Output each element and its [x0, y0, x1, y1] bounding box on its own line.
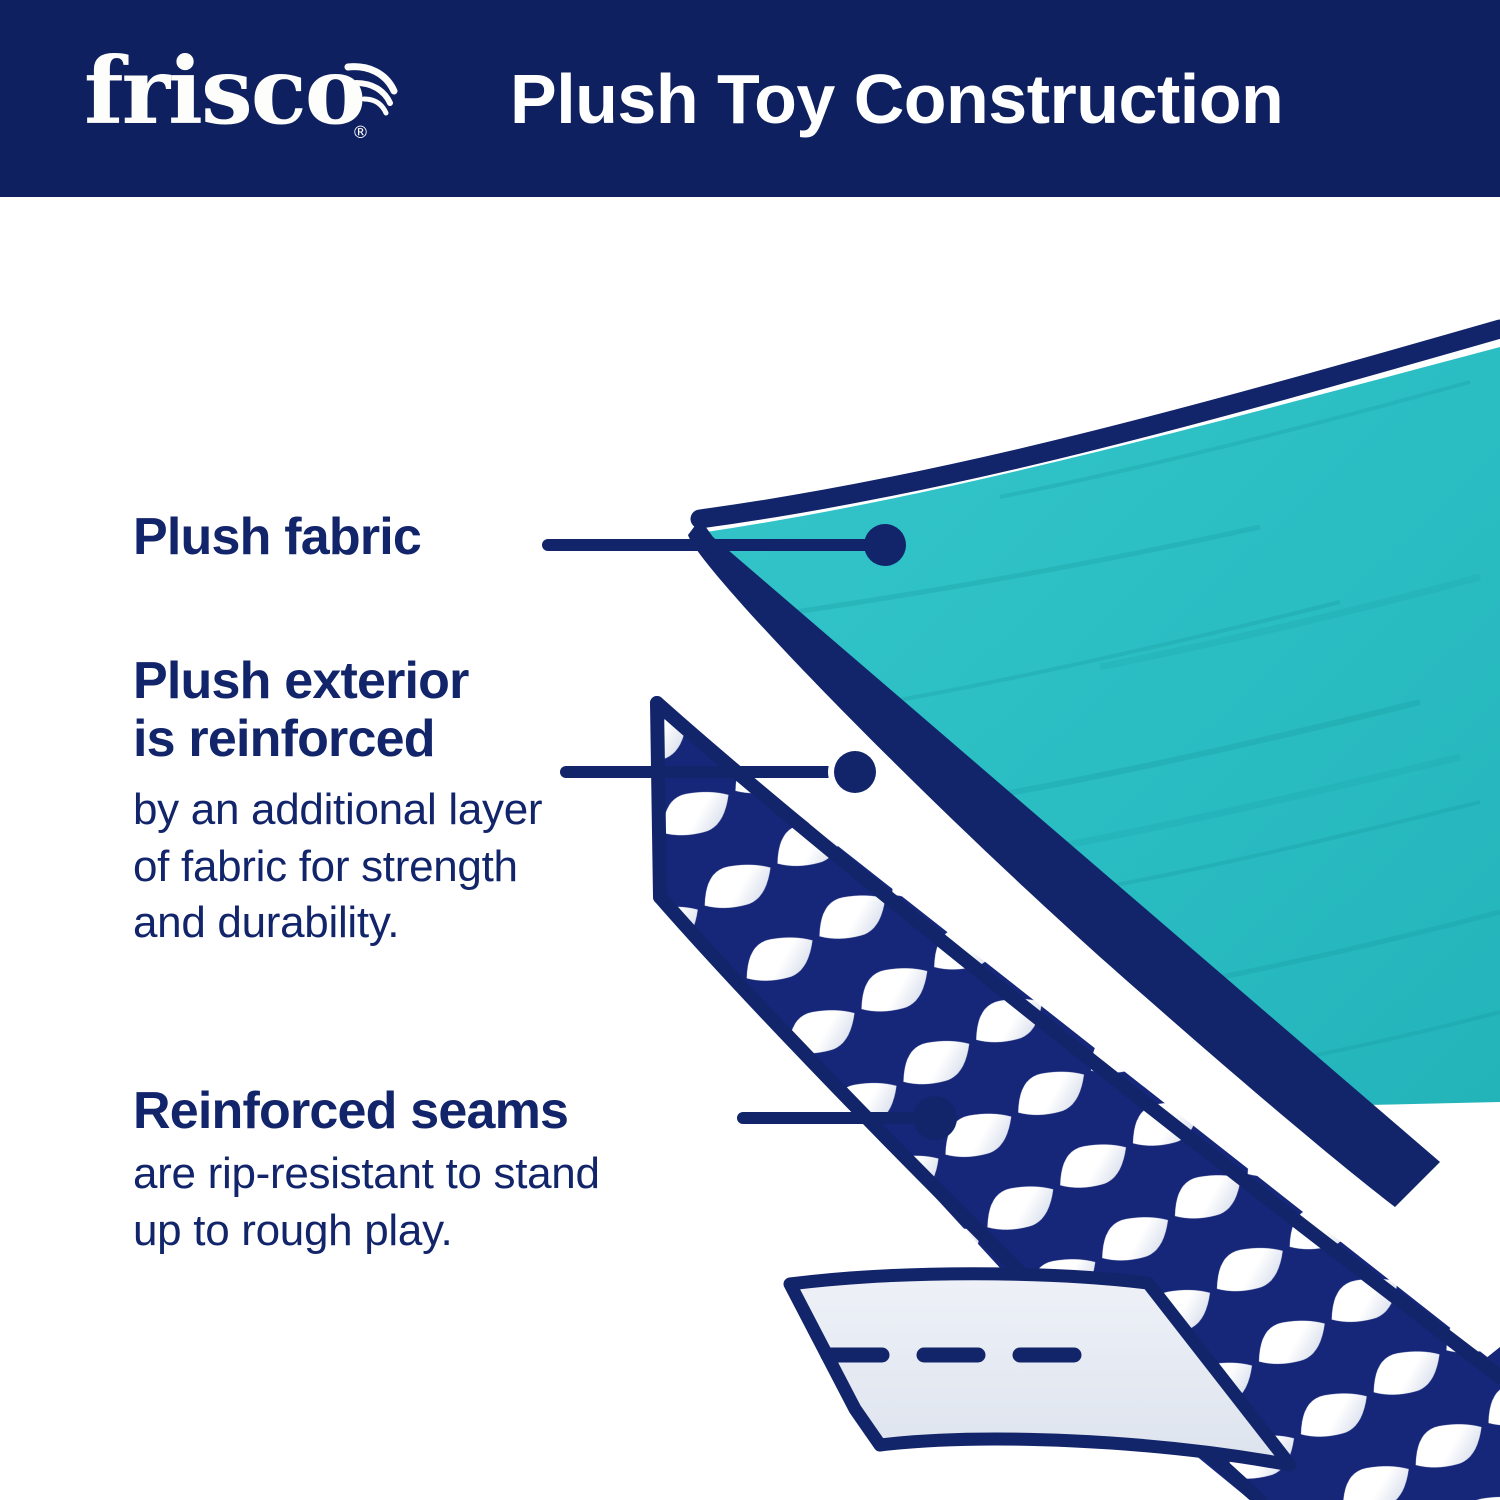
callout-plush-exterior: Plush exterior is reinforced by an addit… — [133, 652, 542, 951]
frisco-logo: frisco ® — [84, 39, 394, 159]
callout-reinforced-seams: Reinforced seams are rip-resistant to st… — [133, 1082, 600, 1259]
callout-reinforced-seams-heading: Reinforced seams — [133, 1082, 600, 1140]
callout-plush-exterior-heading: Plush exterior is reinforced — [133, 652, 542, 768]
frisco-wordmark: frisco — [84, 45, 364, 137]
registered-mark: ® — [352, 125, 369, 142]
callout-plush-exterior-body: by an additional layer of fabric for str… — [133, 782, 542, 951]
mesh-outline-left — [657, 703, 660, 897]
callout-plush-fabric: Plush fabric — [133, 508, 421, 566]
leader-dot-plush-fabric — [864, 524, 906, 566]
header-bar: frisco ® Plush Toy Construction — [0, 0, 1500, 197]
page-title: Plush Toy Construction — [510, 59, 1283, 139]
swoosh-icon — [342, 61, 398, 117]
callout-reinforced-seams-body: are rip-resistant to stand up to rough p… — [133, 1146, 600, 1259]
callout-plush-fabric-heading: Plush fabric — [133, 508, 421, 566]
infographic-page: frisco ® Plush Toy Construction — [0, 0, 1500, 1500]
leader-dot-plush-exterior — [834, 751, 876, 793]
leader-dot-reinforced-seams — [913, 1096, 957, 1140]
